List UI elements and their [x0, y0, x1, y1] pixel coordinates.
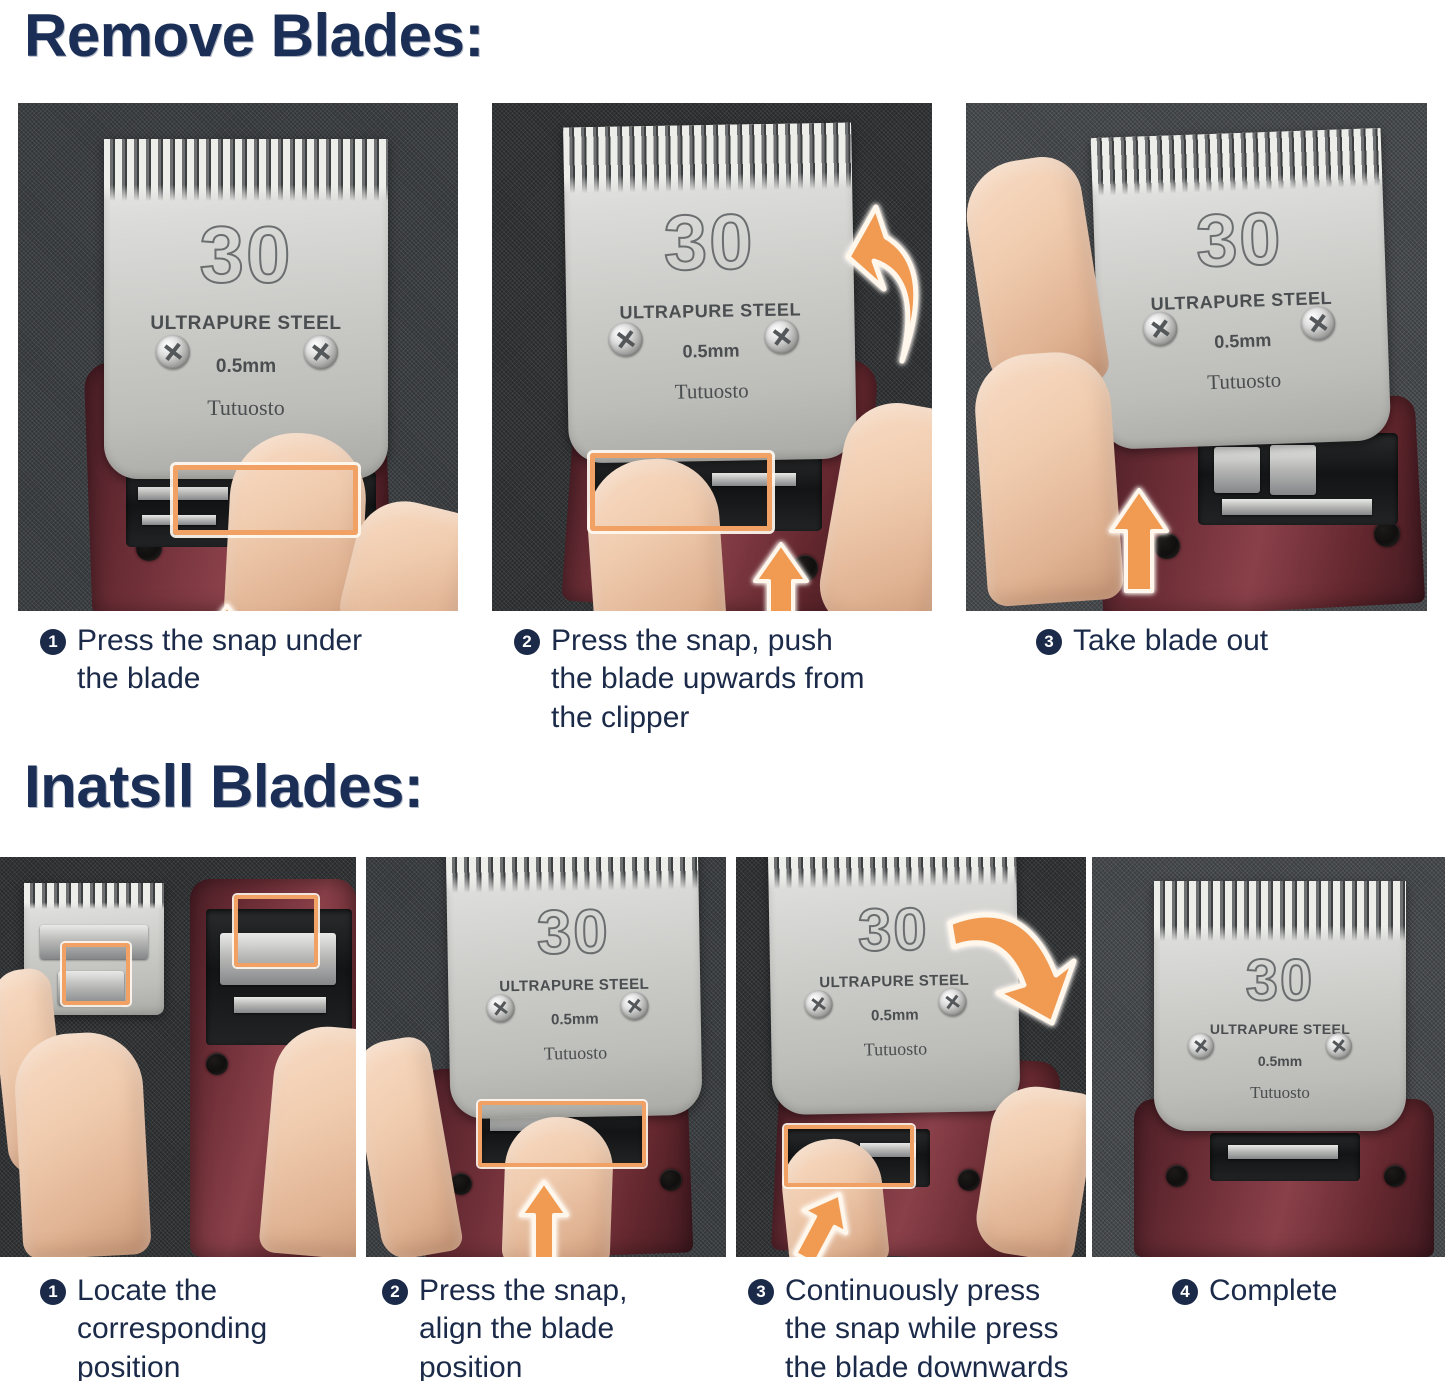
- blade-snap-tab: [58, 971, 124, 1005]
- snap-mechanism: [1198, 433, 1398, 525]
- section-heading-remove: Remove Blades:: [24, 6, 484, 66]
- arrow-up-icon: [518, 1179, 570, 1257]
- photo-row-install: 30 ULTRAPURE STEEL 0.5mm Tutuosto: [0, 857, 1445, 1257]
- step-text: Press the snap, push the blade upwards f…: [551, 622, 865, 737]
- blade-face: 30 ULTRAPURE STEEL 0.5mm Tutuosto: [445, 857, 702, 1119]
- blade-face: 30 ULTRAPURE STEEL 0.5mm Tutuosto: [1154, 881, 1406, 1131]
- arrow-up-icon: [1108, 487, 1170, 595]
- blade-material: ULTRAPURE STEEL: [566, 298, 854, 324]
- blade-number: 30: [1093, 192, 1386, 287]
- caption-remove-step-1: 1 Press the snap under the blade: [40, 622, 480, 699]
- blade-screw-left: [1188, 1033, 1214, 1059]
- thumb-left: [12, 1030, 152, 1257]
- caption-install-step-3: 3 Continuously press the snap while pres…: [748, 1272, 1108, 1381]
- clipper-blade: 30 ULTRAPURE STEEL 0.5mm Tutuosto: [1154, 881, 1406, 1131]
- step-badge: 3: [1036, 629, 1062, 655]
- caption-remove-step-3: 3 Take blade out: [1036, 622, 1436, 660]
- step-badge: 1: [40, 1279, 66, 1305]
- thumb: [971, 349, 1124, 608]
- caption-install-step-2: 2 Press the snap, align the blade positi…: [382, 1272, 722, 1381]
- clipper-blade: 30 ULTRAPURE STEEL 0.5mm Tutuosto: [104, 139, 388, 479]
- blade-size: 0.5mm: [104, 356, 388, 378]
- caption-install-step-1: 1 Locate the corresponding position: [40, 1272, 360, 1381]
- instruction-sheet: Remove Blades: 30 ULTRAPURE STEEL 0.5mm: [0, 0, 1445, 1381]
- blade-material: ULTRAPURE STEEL: [1154, 1021, 1406, 1037]
- mechanism-bar-b: [142, 515, 216, 525]
- step-text: Continuously press the snap while press …: [785, 1272, 1069, 1381]
- blade-number: 30: [447, 895, 700, 970]
- blade-size: 0.5mm: [1098, 326, 1389, 357]
- blade-brand: Tutuosto: [104, 395, 388, 421]
- arrow-curved-icon: [940, 871, 1082, 1061]
- blade-number: 30: [564, 195, 854, 291]
- snap-mechanism: [1210, 1133, 1360, 1181]
- photo-row-remove: 30 ULTRAPURE STEEL 0.5mm Tutuosto: [18, 103, 1427, 611]
- mechanism-bar-b: [1270, 445, 1316, 495]
- step-text: Press the snap under the blade: [77, 622, 362, 699]
- photo-remove-step-1: 30 ULTRAPURE STEEL 0.5mm Tutuosto: [18, 103, 458, 611]
- photo-install-step-1: [0, 857, 356, 1257]
- step-text: Press the snap, align the blade position: [419, 1272, 627, 1381]
- clipper-blade: 30 ULTRAPURE STEEL 0.5mm Tutuosto: [1091, 128, 1392, 450]
- section-heading-install: Inatsll Blades:: [24, 757, 423, 817]
- step-badge: 2: [382, 1279, 408, 1305]
- arrow-up-icon: [196, 603, 258, 611]
- clipper-screw-left: [206, 1053, 228, 1075]
- blade-material: ULTRAPURE STEEL: [448, 975, 700, 996]
- blade-screw-right: [1326, 1033, 1352, 1059]
- photo-install-step-2: 30 ULTRAPURE STEEL 0.5mm Tutuosto: [366, 857, 726, 1257]
- blade-brand: Tutuosto: [568, 376, 856, 406]
- blade-face: 30 ULTRAPURE STEEL 0.5mm Tutuosto: [1091, 128, 1392, 450]
- mount-plate: [220, 933, 336, 985]
- blade-brand: Tutuosto: [449, 1041, 701, 1066]
- blade-material: ULTRAPURE STEEL: [104, 313, 388, 335]
- blade-teeth: [24, 883, 164, 909]
- clipper-head-mount: [206, 909, 352, 1045]
- blade-brand: Tutuosto: [1154, 1083, 1406, 1103]
- step-badge: 4: [1172, 1279, 1198, 1305]
- step-text: Take blade out: [1073, 622, 1268, 660]
- arrow-up-icon: [752, 541, 810, 611]
- photo-install-step-3: 30 ULTRAPURE STEEL 0.5mm Tutuosto: [736, 857, 1086, 1257]
- mechanism-bar-a: [138, 487, 228, 500]
- clipper-screw-left: [1166, 1165, 1188, 1187]
- step-text: Complete: [1209, 1272, 1337, 1310]
- mechanism-bar-a: [712, 473, 796, 486]
- mechanism-bar-a: [1228, 1145, 1338, 1159]
- blade-face: 30 ULTRAPURE STEEL 0.5mm Tutuosto: [104, 139, 388, 479]
- caption-install-step-4: 4 Complete: [1172, 1272, 1432, 1310]
- blade-face: 30 ULTRAPURE STEEL 0.5mm Tutuosto: [563, 123, 857, 464]
- clipper-screw-right: [660, 1169, 682, 1191]
- blade-screw-right: [304, 335, 338, 369]
- caption-remove-step-2: 2 Press the snap, push the blade upwards…: [514, 622, 964, 737]
- photo-remove-step-3: 30 ULTRAPURE STEEL 0.5mm Tutuosto: [966, 103, 1427, 611]
- photo-install-step-4: 30 ULTRAPURE STEEL 0.5mm Tutuosto: [1092, 857, 1445, 1257]
- clipper-blade: 30 ULTRAPURE STEEL 0.5mm Tutuosto: [445, 857, 702, 1119]
- blade-number: 30: [104, 209, 388, 301]
- blade-brand: Tutuosto: [1099, 364, 1390, 399]
- blade-material: ULTRAPURE STEEL: [1096, 286, 1387, 317]
- mount-bar: [234, 997, 326, 1013]
- mechanism-bar-a: [1214, 447, 1260, 493]
- blade-screw-left: [156, 335, 190, 369]
- clipper-screw-right: [958, 1169, 980, 1191]
- clipper-blade: 30 ULTRAPURE STEEL 0.5mm Tutuosto: [563, 123, 857, 464]
- step-badge: 1: [40, 629, 66, 655]
- clipper-screw-right: [1384, 1165, 1406, 1187]
- blade-number: 30: [1154, 947, 1406, 1014]
- step-badge: 2: [514, 629, 540, 655]
- mechanism-bar-c: [1222, 499, 1372, 515]
- step-text: Locate the corresponding position: [77, 1272, 267, 1381]
- blade-underside-plate: [40, 925, 148, 959]
- step-badge: 3: [748, 1279, 774, 1305]
- photo-remove-step-2: 30 ULTRAPURE STEEL 0.5mm Tutuosto: [492, 103, 932, 611]
- arrow-curved-icon: [830, 191, 932, 371]
